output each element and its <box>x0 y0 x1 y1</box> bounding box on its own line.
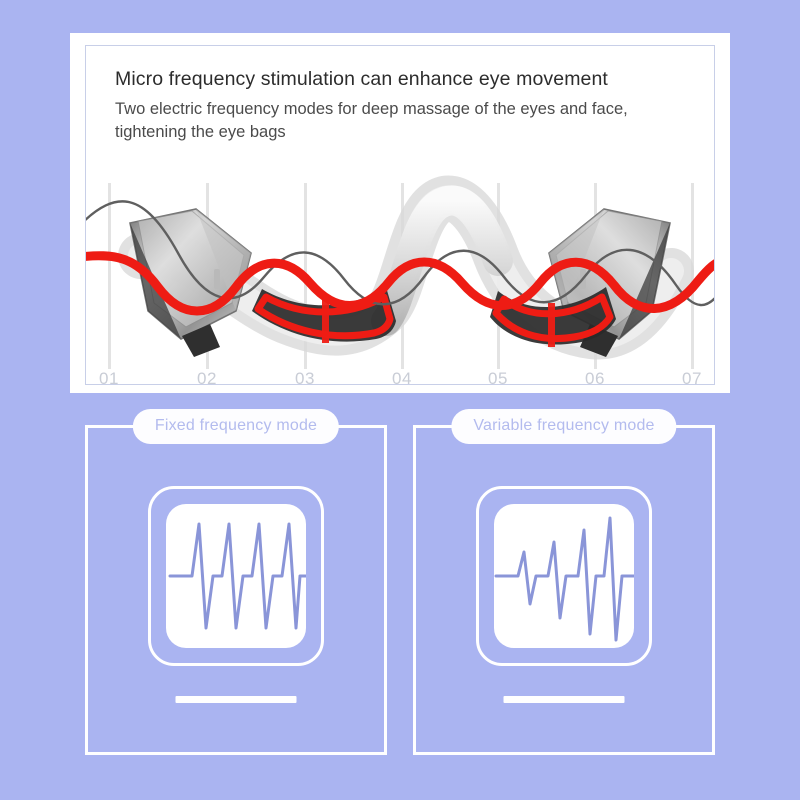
variable-frequency-waveform-icon <box>494 504 634 648</box>
axis-label-02: 02 <box>197 369 217 389</box>
axis-label-03: 03 <box>295 369 315 389</box>
mode-label-variable-frequency: Variable frequency mode <box>451 409 676 444</box>
mode-card-variable-frequency[interactable]: Variable frequency mode <box>413 425 715 755</box>
axis-label-01: 01 <box>99 369 119 389</box>
hero-text-block: Micro frequency stimulation can enhance … <box>115 68 690 144</box>
fixed-frequency-underline-bar <box>176 696 297 703</box>
axis-label-04: 04 <box>392 369 412 389</box>
axis-label-06: 06 <box>585 369 605 389</box>
axis-label-05: 05 <box>488 369 508 389</box>
eye-massager-waveform-illustration <box>86 161 714 391</box>
left-eye-massager-device <box>130 209 251 357</box>
page-subtitle: Two electric frequency modes for deep ma… <box>115 98 690 144</box>
hero-card: Micro frequency stimulation can enhance … <box>70 33 730 393</box>
promo-page: Micro frequency stimulation can enhance … <box>0 0 800 800</box>
fixed-frequency-waveform-icon <box>166 504 306 648</box>
mode-label-fixed-frequency: Fixed frequency mode <box>133 409 339 444</box>
variable-frequency-underline-bar <box>504 696 625 703</box>
illustration-axis-labels: 01 02 03 04 05 06 07 <box>86 369 714 399</box>
axis-label-07: 07 <box>682 369 702 389</box>
mode-card-fixed-frequency[interactable]: Fixed frequency mode <box>85 425 387 755</box>
page-title: Micro frequency stimulation can enhance … <box>115 68 690 91</box>
variable-frequency-icon-outline <box>476 486 652 666</box>
fixed-frequency-icon-outline <box>148 486 324 666</box>
